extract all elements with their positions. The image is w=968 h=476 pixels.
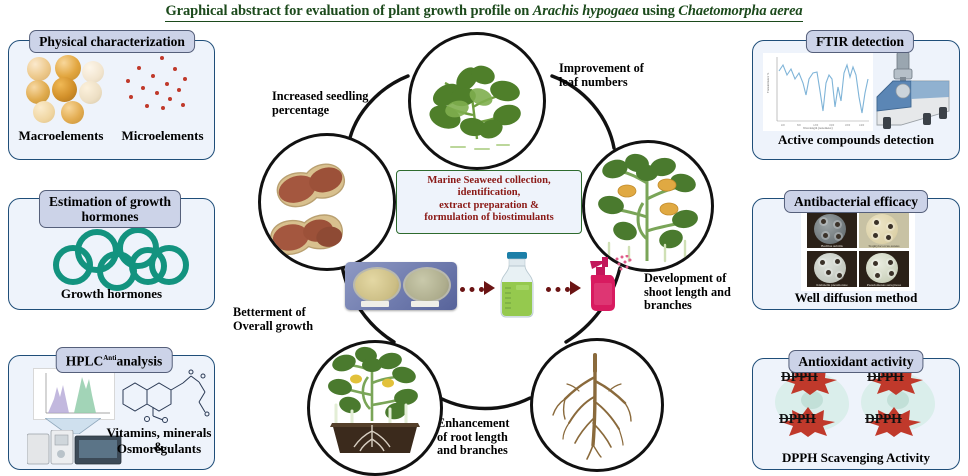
title-part-2: using <box>639 3 679 19</box>
svg-text:2400: 2400 <box>859 124 865 127</box>
label-root-line2: of root length <box>437 430 508 444</box>
microelements-caption: Microelements <box>111 129 214 143</box>
antibacterial-photo-grid: Antibacterial activity Bacillus subtilis… <box>801 205 915 291</box>
growth-hormones-heading-line1: Estimation of growth <box>49 194 171 209</box>
panel-heading-hplc-analysis: HPLCAntianalysis <box>56 347 173 373</box>
petri-photo-2: Staphylococcus aureus <box>859 212 909 248</box>
center-statement-box: Marine Seaweed collection, identificatio… <box>396 170 582 234</box>
petri-photo-4: Pseudomonas aeruginosa <box>859 251 909 287</box>
dpph-label-3: DPPH <box>779 411 816 427</box>
label-shoot-line1: Development of <box>644 271 726 285</box>
title-species-2: Chaetomorpha aerea <box>678 3 802 19</box>
cycle-label-root: Enhancement of root length and branches <box>437 417 547 458</box>
svg-text:800: 800 <box>797 124 802 127</box>
hplc-chromatogram <box>33 368 115 420</box>
cycle-label-seed: Increased seedling percentage <box>272 90 402 117</box>
panel-heading-growth-hormones: Estimation of growth hormones <box>39 190 181 228</box>
growth-hormones-caption: Growth hormones <box>9 287 214 301</box>
hplc-heading-main: HPLC <box>66 354 104 369</box>
title-part-1: Graphical abstract for evaluation of pla… <box>165 3 532 19</box>
label-growth-line1: Betterment of <box>233 305 306 319</box>
spray-bottle <box>586 255 632 318</box>
cycle-node-root[interactable] <box>530 338 664 472</box>
cycle-node-shoot[interactable] <box>582 140 714 272</box>
green-seedling-icon <box>411 35 543 167</box>
svg-text:Transmittance %: Transmittance % <box>766 72 770 93</box>
spray-bottle-icon <box>586 255 632 313</box>
panel-heading-physical-characterization: Physical characterization <box>29 30 195 53</box>
petri-photo-3: Klebsiella pneumoniae <box>807 251 857 287</box>
panel-antibacterial-efficacy[interactable]: Antibacterial activity Bacillus subtilis… <box>752 198 960 310</box>
dish-label-2 <box>411 301 439 307</box>
panel-physical-characterization[interactable]: Macroelements Microelements <box>8 40 215 160</box>
peanut-pods-icon <box>261 136 393 268</box>
flow-arrow-1-head <box>484 281 495 295</box>
label-root-line3: and branches <box>437 443 508 457</box>
svg-text:2000: 2000 <box>845 124 851 127</box>
cycle-node-growth[interactable] <box>307 340 443 476</box>
flow-arrow-1-line <box>460 287 484 292</box>
whole-plant-soil-icon <box>310 343 440 473</box>
growth-hormones-heading-line2: hormones <box>81 209 138 224</box>
chromatogram-svg <box>34 369 114 419</box>
powder-dish-1 <box>353 267 401 303</box>
svg-text:1600: 1600 <box>829 124 835 127</box>
page-title: Graphical abstract for evaluation of pla… <box>0 2 968 22</box>
label-seed-line2: percentage <box>272 103 329 117</box>
center-line-1: Marine Seaweed collection, <box>397 175 581 187</box>
ftir-spectrum-plot: Transmittance % Wavelength (nanometer) 4… <box>763 53 873 131</box>
panel-ftir-detection[interactable]: Transmittance % Wavelength (nanometer) 4… <box>752 40 960 160</box>
root-system-icon <box>533 341 661 469</box>
panel-heading-ftir-detection: FTIR detection <box>806 30 914 53</box>
growth-hormone-rings-illustration <box>53 223 183 281</box>
hplc-caption-line2: Osmoregulants <box>105 442 213 456</box>
panel-antioxidant-activity[interactable]: DPPH DPPH DPPH DPPH DPPH Scavenging Acti… <box>752 358 960 470</box>
flowering-plant-icon <box>585 143 711 269</box>
petri-photo-1: Bacillus subtilis <box>807 212 857 248</box>
hplc-heading-sup: Anti <box>103 354 116 362</box>
ftir-spectrum-svg: Transmittance % Wavelength (nanometer) 4… <box>763 53 873 131</box>
hplc-heading-tail: analysis <box>116 354 162 369</box>
flow-arrow-2-head <box>570 281 581 295</box>
svg-text:1200: 1200 <box>813 124 819 127</box>
cycle-node-leaf[interactable] <box>408 32 546 170</box>
page-title-text: Graphical abstract for evaluation of pla… <box>165 2 802 22</box>
panel-heading-antibacterial-efficacy: Antibacterial efficacy <box>784 190 928 213</box>
label-seed-line1: Increased seedling <box>272 89 368 103</box>
title-species-1: Arachis hypogaea <box>533 3 639 19</box>
ftir-caption: Active compounds detection <box>753 133 959 147</box>
cycle-label-growth: Betterment of Overall growth <box>233 306 343 333</box>
label-leaf-line2: leaf numbers <box>559 75 628 89</box>
macroelements-caption: Macroelements <box>11 129 111 143</box>
svg-text:400: 400 <box>781 124 786 127</box>
cycle-node-seed[interactable] <box>258 133 396 271</box>
center-line-3: extract preparation & <box>397 200 581 212</box>
label-shoot-line2: shoot length and <box>644 285 731 299</box>
seaweed-powder-tray <box>345 262 457 310</box>
macroelements-illustration <box>19 55 111 121</box>
panel-heading-antioxidant-activity: Antioxidant activity <box>788 350 923 373</box>
cycle-label-shoot: Development of shoot length and branches <box>644 272 756 313</box>
microelements-illustration <box>121 55 203 121</box>
dpph-label-4: DPPH <box>865 411 902 427</box>
extract-bottle-icon <box>496 252 538 318</box>
label-leaf-line1: Improvement of <box>559 61 644 75</box>
label-growth-line2: Overall growth <box>233 319 313 333</box>
powder-dish-2 <box>403 267 451 303</box>
center-line-4: formulation of biostimulants <box>397 212 581 224</box>
label-root-line1: Enhancement <box>437 416 509 430</box>
flow-arrow-2-line <box>546 287 570 292</box>
antibacterial-caption: Well diffusion method <box>753 291 959 305</box>
center-line-2: identification, <box>397 187 581 199</box>
cycle-label-leaf: Improvement of leaf numbers <box>559 62 689 89</box>
antioxidant-caption: DPPH Scavenging Activity <box>753 451 959 465</box>
ftir-instrument-icon <box>871 51 955 138</box>
dish-label-1 <box>361 301 389 307</box>
extract-bottle <box>496 252 538 323</box>
label-shoot-line3: branches <box>644 298 692 312</box>
